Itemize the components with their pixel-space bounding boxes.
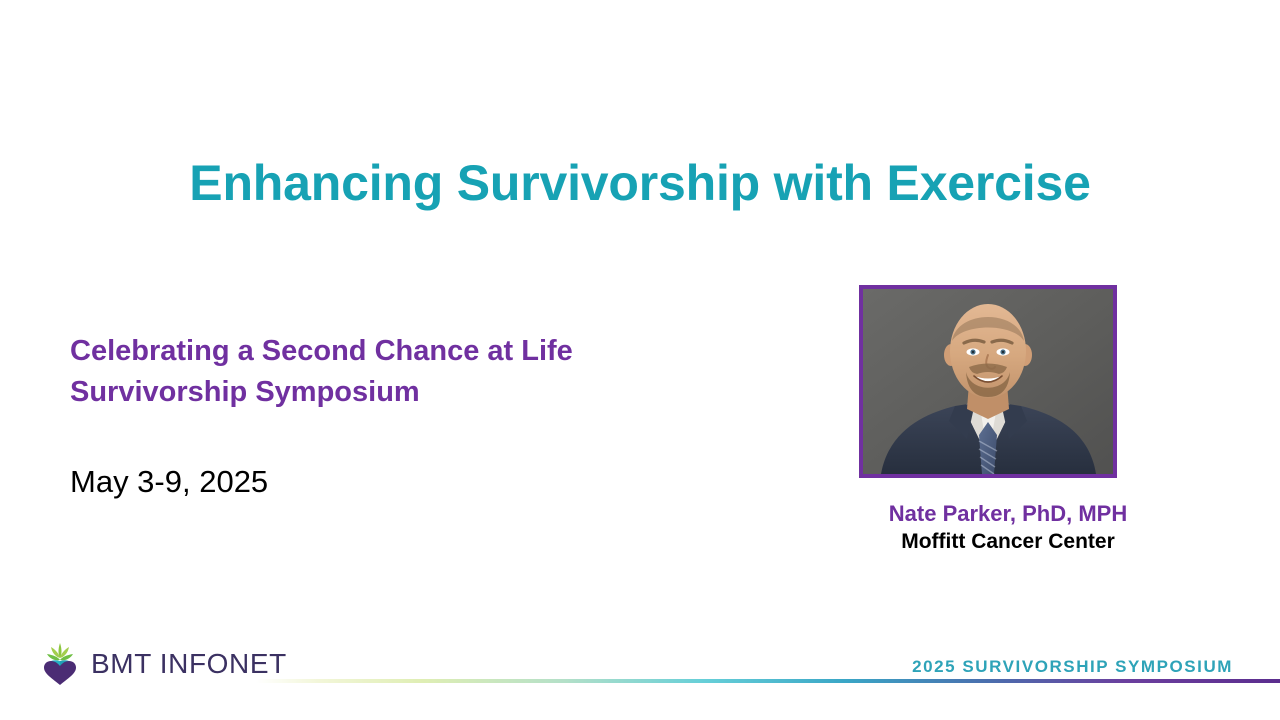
event-date: May 3-9, 2025	[70, 463, 268, 500]
brand-wordmark: BMT INFONET	[91, 650, 287, 678]
speaker-photo	[859, 285, 1117, 478]
bmt-infonet-plant-heart-icon	[40, 641, 80, 687]
speaker-name: Nate Parker, PhD, MPH	[818, 499, 1198, 528]
speaker-caption: Nate Parker, PhD, MPH Moffitt Cancer Cen…	[818, 499, 1198, 556]
symposium-tag: 2025 SURVIVORSHIP SYMPOSIUM	[912, 658, 1233, 675]
event-name-line-1: Celebrating a Second Chance at Life	[70, 331, 770, 372]
page-title: Enhancing Survivorship with Exercise	[0, 156, 1280, 211]
speaker-organization: Moffitt Cancer Center	[818, 528, 1198, 556]
event-info-block: Celebrating a Second Chance at Life Surv…	[70, 331, 770, 413]
presentation-slide: Enhancing Survivorship with Exercise Cel…	[0, 0, 1280, 720]
brand-lockup: BMT INFONET	[40, 641, 287, 687]
event-name-line-2: Survivorship Symposium	[70, 372, 770, 413]
speaker-headshot-image	[863, 289, 1113, 474]
